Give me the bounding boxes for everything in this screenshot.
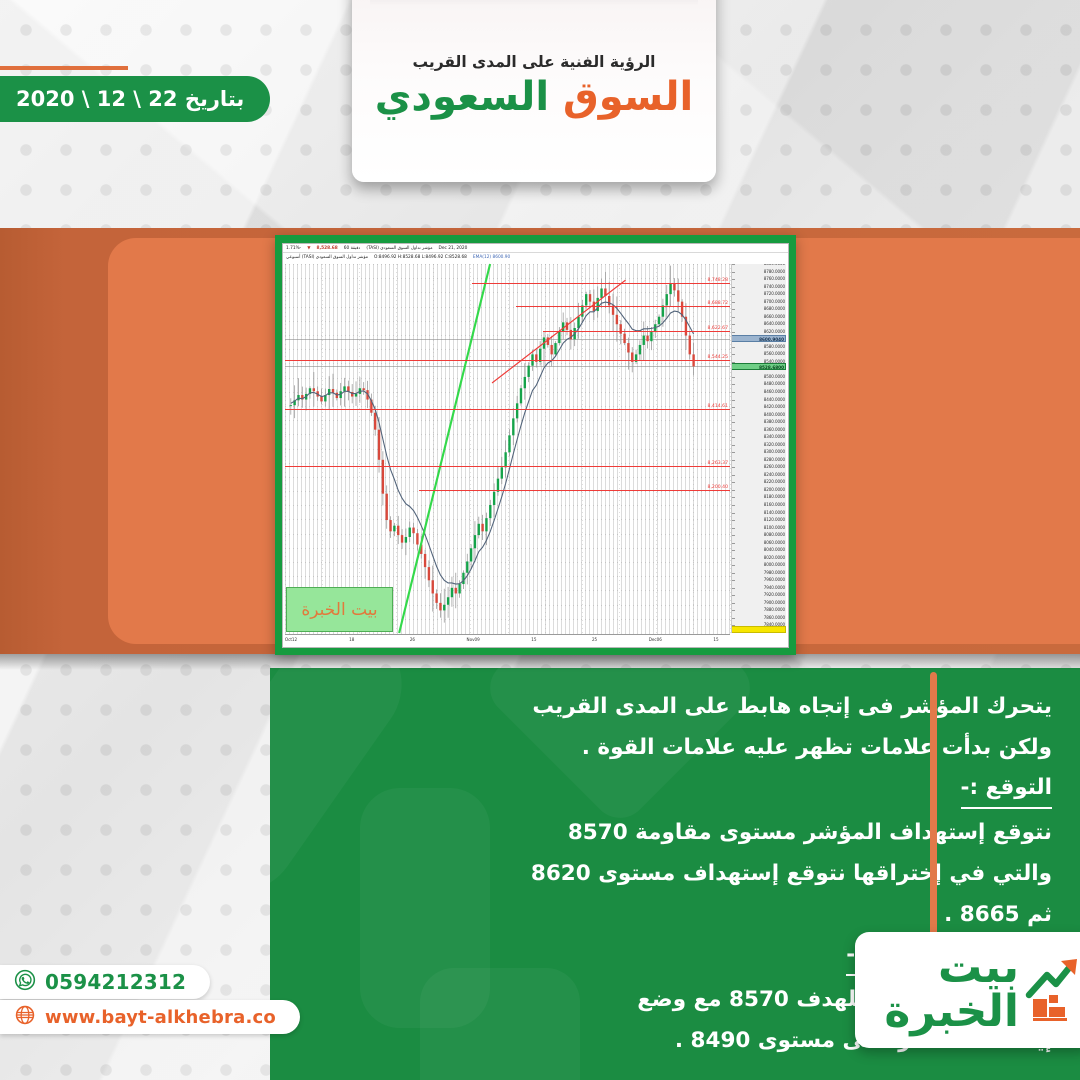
price-axis-tick: 8060.0000 bbox=[764, 540, 785, 546]
contact-phone[interactable]: 0594212312 bbox=[0, 965, 210, 999]
chart-level-line bbox=[285, 360, 730, 361]
chart-level-label: 8,748.28 bbox=[708, 278, 728, 283]
price-axis-tickmark bbox=[732, 317, 735, 318]
price-axis-tick: 8280.0000 bbox=[764, 457, 785, 463]
price-axis-tickmark bbox=[732, 565, 735, 566]
title-card-sheen bbox=[370, 0, 698, 6]
price-axis-tick: 7960.0000 bbox=[764, 577, 785, 583]
price-axis-tick: 8800.0000 bbox=[764, 264, 785, 267]
chart-date: Dec 21, 2020 bbox=[439, 246, 468, 251]
price-axis-scroll-marker[interactable] bbox=[731, 626, 786, 633]
price-axis-tickmark bbox=[732, 558, 735, 559]
time-axis-tick: Dec06 bbox=[649, 637, 662, 642]
price-axis-tickmark bbox=[732, 400, 735, 401]
page-title-green: السعودي bbox=[375, 74, 549, 120]
price-axis-tick: 8300.0000 bbox=[764, 449, 785, 455]
price-axis-tickmark bbox=[732, 279, 735, 280]
date-accent-rule bbox=[0, 66, 128, 70]
price-axis-tick: 8020.0000 bbox=[764, 555, 785, 561]
price-axis-tick: 8480.0000 bbox=[764, 381, 785, 387]
price-axis-tick: 7900.0000 bbox=[764, 600, 785, 606]
price-axis-tickmark bbox=[732, 437, 735, 438]
chart-direction-arrow: ▼ bbox=[307, 246, 310, 251]
price-axis-tickmark bbox=[732, 497, 735, 498]
growth-arrow-house-icon bbox=[1025, 955, 1080, 1025]
price-axis-tickmark bbox=[732, 475, 735, 476]
price-axis-tickmark bbox=[732, 272, 735, 273]
chart-level-line bbox=[472, 283, 730, 284]
brand-logo-text: بيت الخبرة bbox=[865, 946, 1019, 1034]
price-axis-tick: 8180.0000 bbox=[764, 494, 785, 500]
brand-logo-card[interactable]: بيت الخبرة bbox=[855, 932, 1080, 1048]
price-axis-tick: 8620.0000 bbox=[764, 329, 785, 335]
chart-level-label: 8,414.61 bbox=[708, 404, 728, 409]
price-axis-tick: 7920.0000 bbox=[764, 592, 785, 598]
price-axis-tickmark bbox=[732, 324, 735, 325]
chart-header-line-2: مؤشر تداول السوق السعودي (TASI) أسبوعيO:… bbox=[283, 254, 788, 262]
analysis-line-5: ثم 8665 . bbox=[290, 894, 1052, 935]
price-axis-tickmark bbox=[732, 347, 735, 348]
price-axis-tick: 8500.0000 bbox=[764, 374, 785, 380]
time-axis-tick: 15 bbox=[713, 637, 718, 642]
price-axis-tickmark bbox=[732, 407, 735, 408]
price-axis-tick: 8720.0000 bbox=[764, 291, 785, 297]
price-axis-tick: 8000.0000 bbox=[764, 562, 785, 568]
time-axis-tick: 15 bbox=[531, 637, 536, 642]
chart-trendlines-overlay bbox=[285, 264, 730, 633]
price-axis-tick: 7880.0000 bbox=[764, 607, 785, 613]
chart-frame: مؤشر تداول السوق السعودي (TASI)دقيقة 608… bbox=[275, 235, 796, 655]
price-axis-tick: 8120.0000 bbox=[764, 517, 785, 523]
price-axis-tick: 8220.0000 bbox=[764, 479, 785, 485]
title-card: الرؤية الفنية على المدى القريب السوق الس… bbox=[352, 0, 716, 182]
chart-change-percent: -1.71% bbox=[286, 246, 301, 251]
price-axis-tickmark bbox=[732, 377, 735, 378]
chart-level-line bbox=[543, 331, 730, 332]
price-axis-tick: 8780.0000 bbox=[764, 269, 785, 275]
price-axis-tickmark bbox=[732, 618, 735, 619]
chart-surface[interactable]: مؤشر تداول السوق السعودي (TASI)دقيقة 608… bbox=[282, 243, 789, 648]
header-subtitle: الرؤية الفنية على المدى القريب bbox=[352, 53, 716, 71]
price-axis-tickmark bbox=[732, 550, 735, 551]
price-axis-tickmark bbox=[732, 543, 735, 544]
chart-plot-area[interactable]: 8,748.288,688.728,622.678,544.258,414.61… bbox=[285, 264, 730, 633]
chart-interval: دقيقة 60 bbox=[344, 246, 361, 251]
price-axis-tickmark bbox=[732, 482, 735, 483]
chart-level-label: 8,200.40 bbox=[708, 485, 728, 490]
chart-ema-label: EMA(12) bbox=[473, 255, 491, 260]
price-axis-ema-marker: 8600.9040 bbox=[731, 335, 786, 342]
page-title: السوق السعودي bbox=[352, 75, 716, 120]
price-axis-tick: 7980.0000 bbox=[764, 570, 785, 576]
price-axis-tickmark bbox=[732, 415, 735, 416]
chart-price-axis: 8800.00008780.00008760.00008740.00008720… bbox=[731, 264, 786, 633]
globe-icon bbox=[14, 1004, 36, 1030]
whatsapp-icon bbox=[14, 969, 36, 995]
price-axis-tick: 8700.0000 bbox=[764, 299, 785, 305]
chart-ohlc: O:8496.92 H:8528.68 L:8496.92 C:8528.68 bbox=[374, 255, 467, 260]
price-axis-tick: 8740.0000 bbox=[764, 284, 785, 290]
price-axis-tick: 8040.0000 bbox=[764, 547, 785, 553]
chart-header-line-1: مؤشر تداول السوق السعودي (TASI)دقيقة 608… bbox=[283, 245, 788, 253]
analysis-heading-forecast: التوقع :- bbox=[961, 771, 1052, 809]
price-axis-tickmark bbox=[732, 392, 735, 393]
website-url: www.bayt-alkhebra.co bbox=[45, 1007, 276, 1028]
price-axis-tick: 8560.0000 bbox=[764, 351, 785, 357]
page-title-orange: السوق bbox=[563, 74, 693, 120]
price-axis-tick: 8200.0000 bbox=[764, 487, 785, 493]
analysis-line-1: يتحرك المؤشر فى إتجاه هابط على المدى الق… bbox=[290, 686, 1052, 727]
price-axis-tickmark bbox=[732, 287, 735, 288]
price-axis-tickmark bbox=[732, 520, 735, 521]
chart-watermark: بيت الخبرة bbox=[286, 587, 393, 632]
price-axis-tick: 7940.0000 bbox=[764, 585, 785, 591]
price-axis-tickmark bbox=[732, 430, 735, 431]
chart-level-line bbox=[285, 466, 730, 467]
time-axis-tick: Oct12 bbox=[285, 637, 297, 642]
time-axis-tick: 25 bbox=[592, 637, 597, 642]
orange-band-shadow bbox=[0, 654, 1080, 670]
analysis-heading-1-wrap: التوقع :- bbox=[290, 768, 1052, 812]
price-axis-tick: 8380.0000 bbox=[764, 419, 785, 425]
price-axis-tickmark bbox=[732, 264, 735, 265]
price-axis-tick: 8580.0000 bbox=[764, 344, 785, 350]
chart-level-label: 8,688.72 bbox=[708, 301, 728, 306]
price-axis-tickmark bbox=[732, 302, 735, 303]
price-axis-tick: 8360.0000 bbox=[764, 427, 785, 433]
chart-level-line bbox=[419, 490, 731, 491]
chart-symbol-name: مؤشر تداول السوق السعودي (TASI) bbox=[366, 246, 432, 251]
price-axis-tick: 8140.0000 bbox=[764, 510, 785, 516]
time-axis-tick: 18 bbox=[349, 637, 354, 642]
price-axis-tick: 8320.0000 bbox=[764, 442, 785, 448]
price-axis-tick: 8080.0000 bbox=[764, 532, 785, 538]
analysis-line-3: نتوقع إستهداف المؤشر مستوى مقاومة 8570 bbox=[290, 812, 1052, 853]
chart-last-price: 8,528.68 bbox=[317, 246, 338, 251]
phone-number: 0594212312 bbox=[45, 970, 186, 994]
chart-series-name: مؤشر تداول السوق السعودي (TASI) أسبوعي bbox=[286, 255, 368, 260]
price-axis-tickmark bbox=[732, 467, 735, 468]
price-axis-tickmark bbox=[732, 505, 735, 506]
price-axis-tick: 7860.0000 bbox=[764, 615, 785, 621]
contact-website[interactable]: www.bayt-alkhebra.co bbox=[0, 1000, 300, 1034]
price-axis-tick: 8240.0000 bbox=[764, 472, 785, 478]
price-axis-tick: 8160.0000 bbox=[764, 502, 785, 508]
price-axis-tickmark bbox=[732, 294, 735, 295]
price-axis-tickmark bbox=[732, 528, 735, 529]
price-axis-tick: 8400.0000 bbox=[764, 412, 785, 418]
price-axis-tickmark bbox=[732, 422, 735, 423]
price-axis-tick: 8680.0000 bbox=[764, 306, 785, 312]
price-axis-tickmark bbox=[732, 513, 735, 514]
chart-level-label: 8,544.25 bbox=[708, 355, 728, 360]
price-axis-last-marker: 8528.6800 bbox=[731, 363, 786, 370]
price-axis-tick: 8760.0000 bbox=[764, 276, 785, 282]
analysis-line-4: والتي في إختراقها نتوقع إستهداف مستوى 86… bbox=[290, 853, 1052, 894]
price-axis-tickmark bbox=[732, 595, 735, 596]
price-axis-tickmark bbox=[732, 535, 735, 536]
price-axis-tickmark bbox=[732, 490, 735, 491]
price-axis-tick: 8260.0000 bbox=[764, 464, 785, 470]
price-axis-tickmark bbox=[732, 452, 735, 453]
price-axis-tickmark bbox=[732, 610, 735, 611]
analysis-line-2: ولكن بدأت علامات تظهر عليه علامات القوة … bbox=[290, 727, 1052, 768]
price-axis-tick: 8440.0000 bbox=[764, 397, 785, 403]
chart-ema-value: 8600.90 bbox=[492, 255, 510, 260]
price-axis-tick: 8340.0000 bbox=[764, 434, 785, 440]
chart-time-axis: Oct121826Nov091525Dec0615 bbox=[285, 634, 730, 646]
orange-accent-strip bbox=[930, 672, 937, 972]
price-axis-tickmark bbox=[732, 573, 735, 574]
time-axis-tick: 26 bbox=[410, 637, 415, 642]
chart-level-line bbox=[285, 409, 730, 410]
price-axis-tickmark bbox=[732, 384, 735, 385]
chart-level-label: 8,263.37 bbox=[708, 461, 728, 466]
price-axis-tickmark bbox=[732, 588, 735, 589]
price-axis-tickmark bbox=[732, 460, 735, 461]
chart-level-line bbox=[516, 306, 730, 307]
price-axis-tick: 8640.0000 bbox=[764, 321, 785, 327]
price-axis-tick: 8420.0000 bbox=[764, 404, 785, 410]
price-axis-tickmark bbox=[732, 309, 735, 310]
price-axis-tick: 8100.0000 bbox=[764, 525, 785, 531]
price-axis-tickmark bbox=[732, 354, 735, 355]
date-badge: بتاريخ 22 \ 12 \ 2020 bbox=[0, 76, 270, 122]
price-axis-tickmark bbox=[732, 332, 735, 333]
price-axis-tickmark bbox=[732, 580, 735, 581]
price-axis-tick: 8460.0000 bbox=[764, 389, 785, 395]
price-axis-tickmark bbox=[732, 603, 735, 604]
chart-level-label: 8,622.67 bbox=[708, 326, 728, 331]
price-axis-tick: 8660.0000 bbox=[764, 314, 785, 320]
time-axis-tick: Nov09 bbox=[467, 637, 480, 642]
price-axis-tickmark bbox=[732, 445, 735, 446]
